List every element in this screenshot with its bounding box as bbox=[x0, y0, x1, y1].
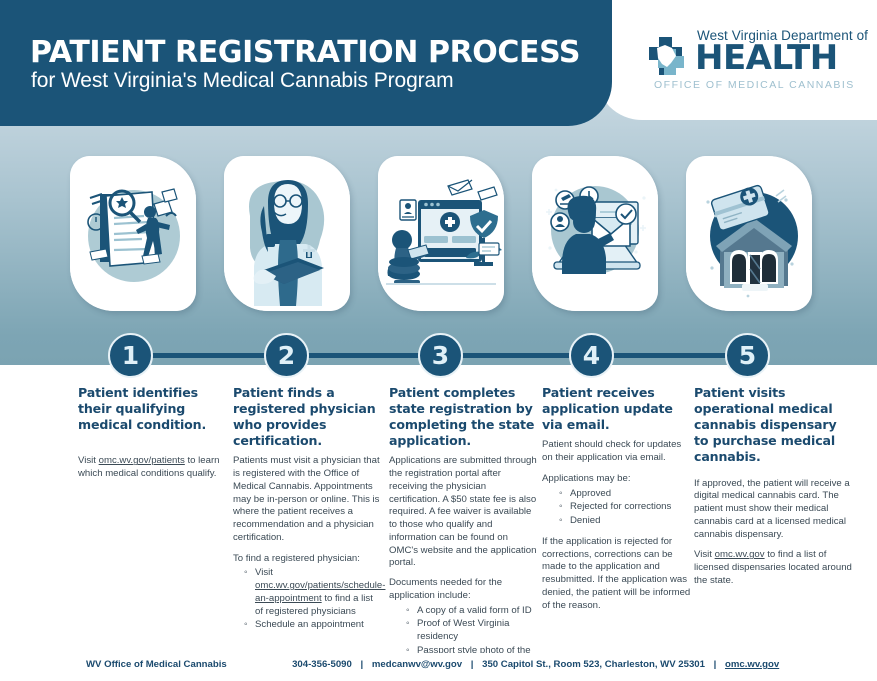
page-title: PATIENT REGISTRATION PROCESS bbox=[30, 35, 580, 70]
medical-cross-wv-icon bbox=[648, 36, 692, 78]
footer-phone: 304-356-5090 bbox=[292, 659, 352, 670]
step-2-paragraph-1: Patients must visit a physician that is … bbox=[233, 455, 383, 544]
step-5-body-before: Visit bbox=[694, 549, 715, 560]
step-3-paragraph-1: Applications are submitted through the r… bbox=[389, 455, 539, 570]
step-3-paragraph-2: Documents needed for the application inc… bbox=[389, 577, 539, 603]
step-5-paragraph-1: If approved, the patient will receive a … bbox=[694, 478, 854, 542]
infographic-page: PATIENT REGISTRATION PROCESS for West Vi… bbox=[0, 0, 877, 681]
step-illustration-card-3 bbox=[378, 156, 504, 311]
step-4-bullet-list: Approved Rejected for corrections Denied bbox=[542, 488, 692, 528]
list-item: Approved bbox=[570, 488, 692, 501]
footer-address: 350 Capitol St., Room 523, Charleston, W… bbox=[482, 659, 705, 670]
list-item: A copy of a valid form of ID bbox=[417, 605, 539, 618]
step-number-2: 2 bbox=[264, 333, 309, 378]
footer-separator-3: | bbox=[708, 659, 723, 670]
step-1-link[interactable]: omc.wv.gov/patients bbox=[99, 455, 185, 466]
step-number-1: 1 bbox=[108, 333, 153, 378]
step-column-4: Patient receives application update via … bbox=[542, 385, 692, 620]
step-number-3: 3 bbox=[418, 333, 463, 378]
list-item: Denied bbox=[570, 515, 692, 528]
footer-website-link[interactable]: omc.wv.gov bbox=[725, 659, 779, 670]
step-column-5: Patient visits operational medical canna… bbox=[694, 385, 854, 596]
step-1-body: Visit omc.wv.gov/patients to learn which… bbox=[78, 455, 230, 481]
step-2-bullet-1-before: Visit bbox=[255, 567, 273, 578]
logo-wordmark: HEALTH bbox=[695, 41, 838, 75]
page-subtitle: for West Virginia's Medical Cannabis Pro… bbox=[31, 69, 454, 93]
step-number-5: 5 bbox=[725, 333, 770, 378]
step-column-1: Patient identifies their qualifying medi… bbox=[78, 385, 230, 489]
step-4-heading: Patient receives application update via … bbox=[542, 385, 692, 433]
step-4-paragraph-2: Applications may be: bbox=[542, 473, 692, 486]
step-4-paragraph-3: If the application is rejected for corre… bbox=[542, 536, 692, 613]
step-2-paragraph-2: To find a registered physician: bbox=[233, 553, 383, 566]
step-1-body-before: Visit bbox=[78, 455, 99, 466]
step-5-heading: Patient visits operational medical canna… bbox=[694, 385, 854, 466]
list-item: Proof of West Virginia residency bbox=[417, 618, 539, 644]
footer-separator-1: | bbox=[355, 659, 370, 670]
step-column-2: Patient finds a registered physician who… bbox=[233, 385, 383, 638]
step-1-heading: Patient identifies their qualifying medi… bbox=[78, 385, 230, 433]
step-2-bullet-2-text: Schedule an appointment bbox=[255, 619, 364, 630]
step-4-paragraph-1: Patient should check for updates on thei… bbox=[542, 439, 692, 465]
logo-office-line: OFFICE OF MEDICAL CANNABIS bbox=[654, 79, 855, 91]
step-illustration-card-4 bbox=[532, 156, 658, 311]
footer-contact-line: WV Office of Medical Cannabis 304-356-50… bbox=[86, 659, 779, 670]
step-illustration-card-5 bbox=[686, 156, 812, 311]
step-3-heading: Patient completes state registration by … bbox=[389, 385, 539, 449]
step-5-link[interactable]: omc.wv.gov bbox=[715, 549, 765, 560]
step-illustration-card-2 bbox=[224, 156, 350, 311]
footer-separator-2: | bbox=[465, 659, 480, 670]
footer-email[interactable]: medcanwv@wv.gov bbox=[372, 659, 462, 670]
footer-org: WV Office of Medical Cannabis bbox=[86, 659, 227, 670]
wv-health-logo: West Virginia Department of HEALTH OFFIC… bbox=[648, 28, 848, 94]
step-2-heading: Patient finds a registered physician who… bbox=[233, 385, 383, 449]
step-5-body: Visit omc.wv.gov to find a list of licen… bbox=[694, 549, 854, 587]
list-item: Rejected for corrections bbox=[570, 501, 692, 514]
list-item: Schedule an appointment bbox=[255, 619, 383, 632]
footer-bar: WV Office of Medical Cannabis 304-356-50… bbox=[0, 653, 877, 681]
list-item: Visit omc.wv.gov/patients/schedule-an-ap… bbox=[255, 567, 383, 618]
step-number-4: 4 bbox=[569, 333, 614, 378]
step-column-3: Patient completes state registration by … bbox=[389, 385, 539, 676]
step-2-bullet-list: Visit omc.wv.gov/patients/schedule-an-ap… bbox=[233, 567, 383, 632]
step-illustration-card-1 bbox=[70, 156, 196, 311]
